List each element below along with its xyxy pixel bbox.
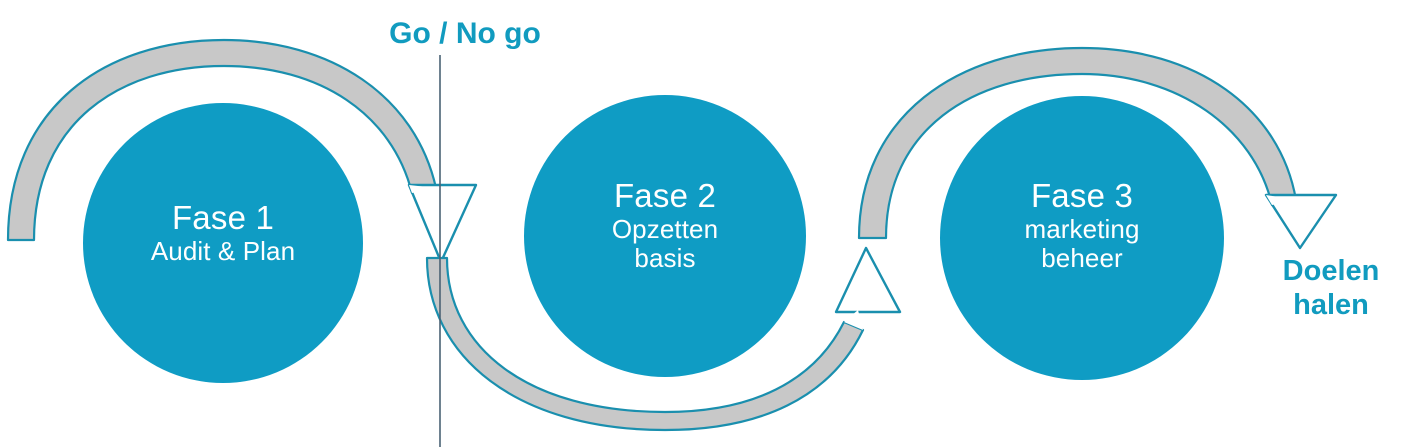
arc-phase-1-arrowhead xyxy=(409,185,476,262)
process-diagram: Fase 1 Audit & Plan Fase 2 Opzetten basi… xyxy=(0,0,1411,447)
goal-label: Doelen halen xyxy=(1256,254,1406,322)
arc-phase-2-arrowhead xyxy=(836,248,900,312)
goal-label-line-2: halen xyxy=(1293,289,1369,321)
phase-circle-3[interactable] xyxy=(940,96,1224,380)
diagram-canvas xyxy=(0,0,1411,447)
phase-circle-2[interactable] xyxy=(524,95,806,377)
go-no-go-label: Go / No go xyxy=(345,16,585,51)
goal-label-line-1: Doelen xyxy=(1283,255,1380,287)
phase-circle-1[interactable] xyxy=(83,103,363,383)
